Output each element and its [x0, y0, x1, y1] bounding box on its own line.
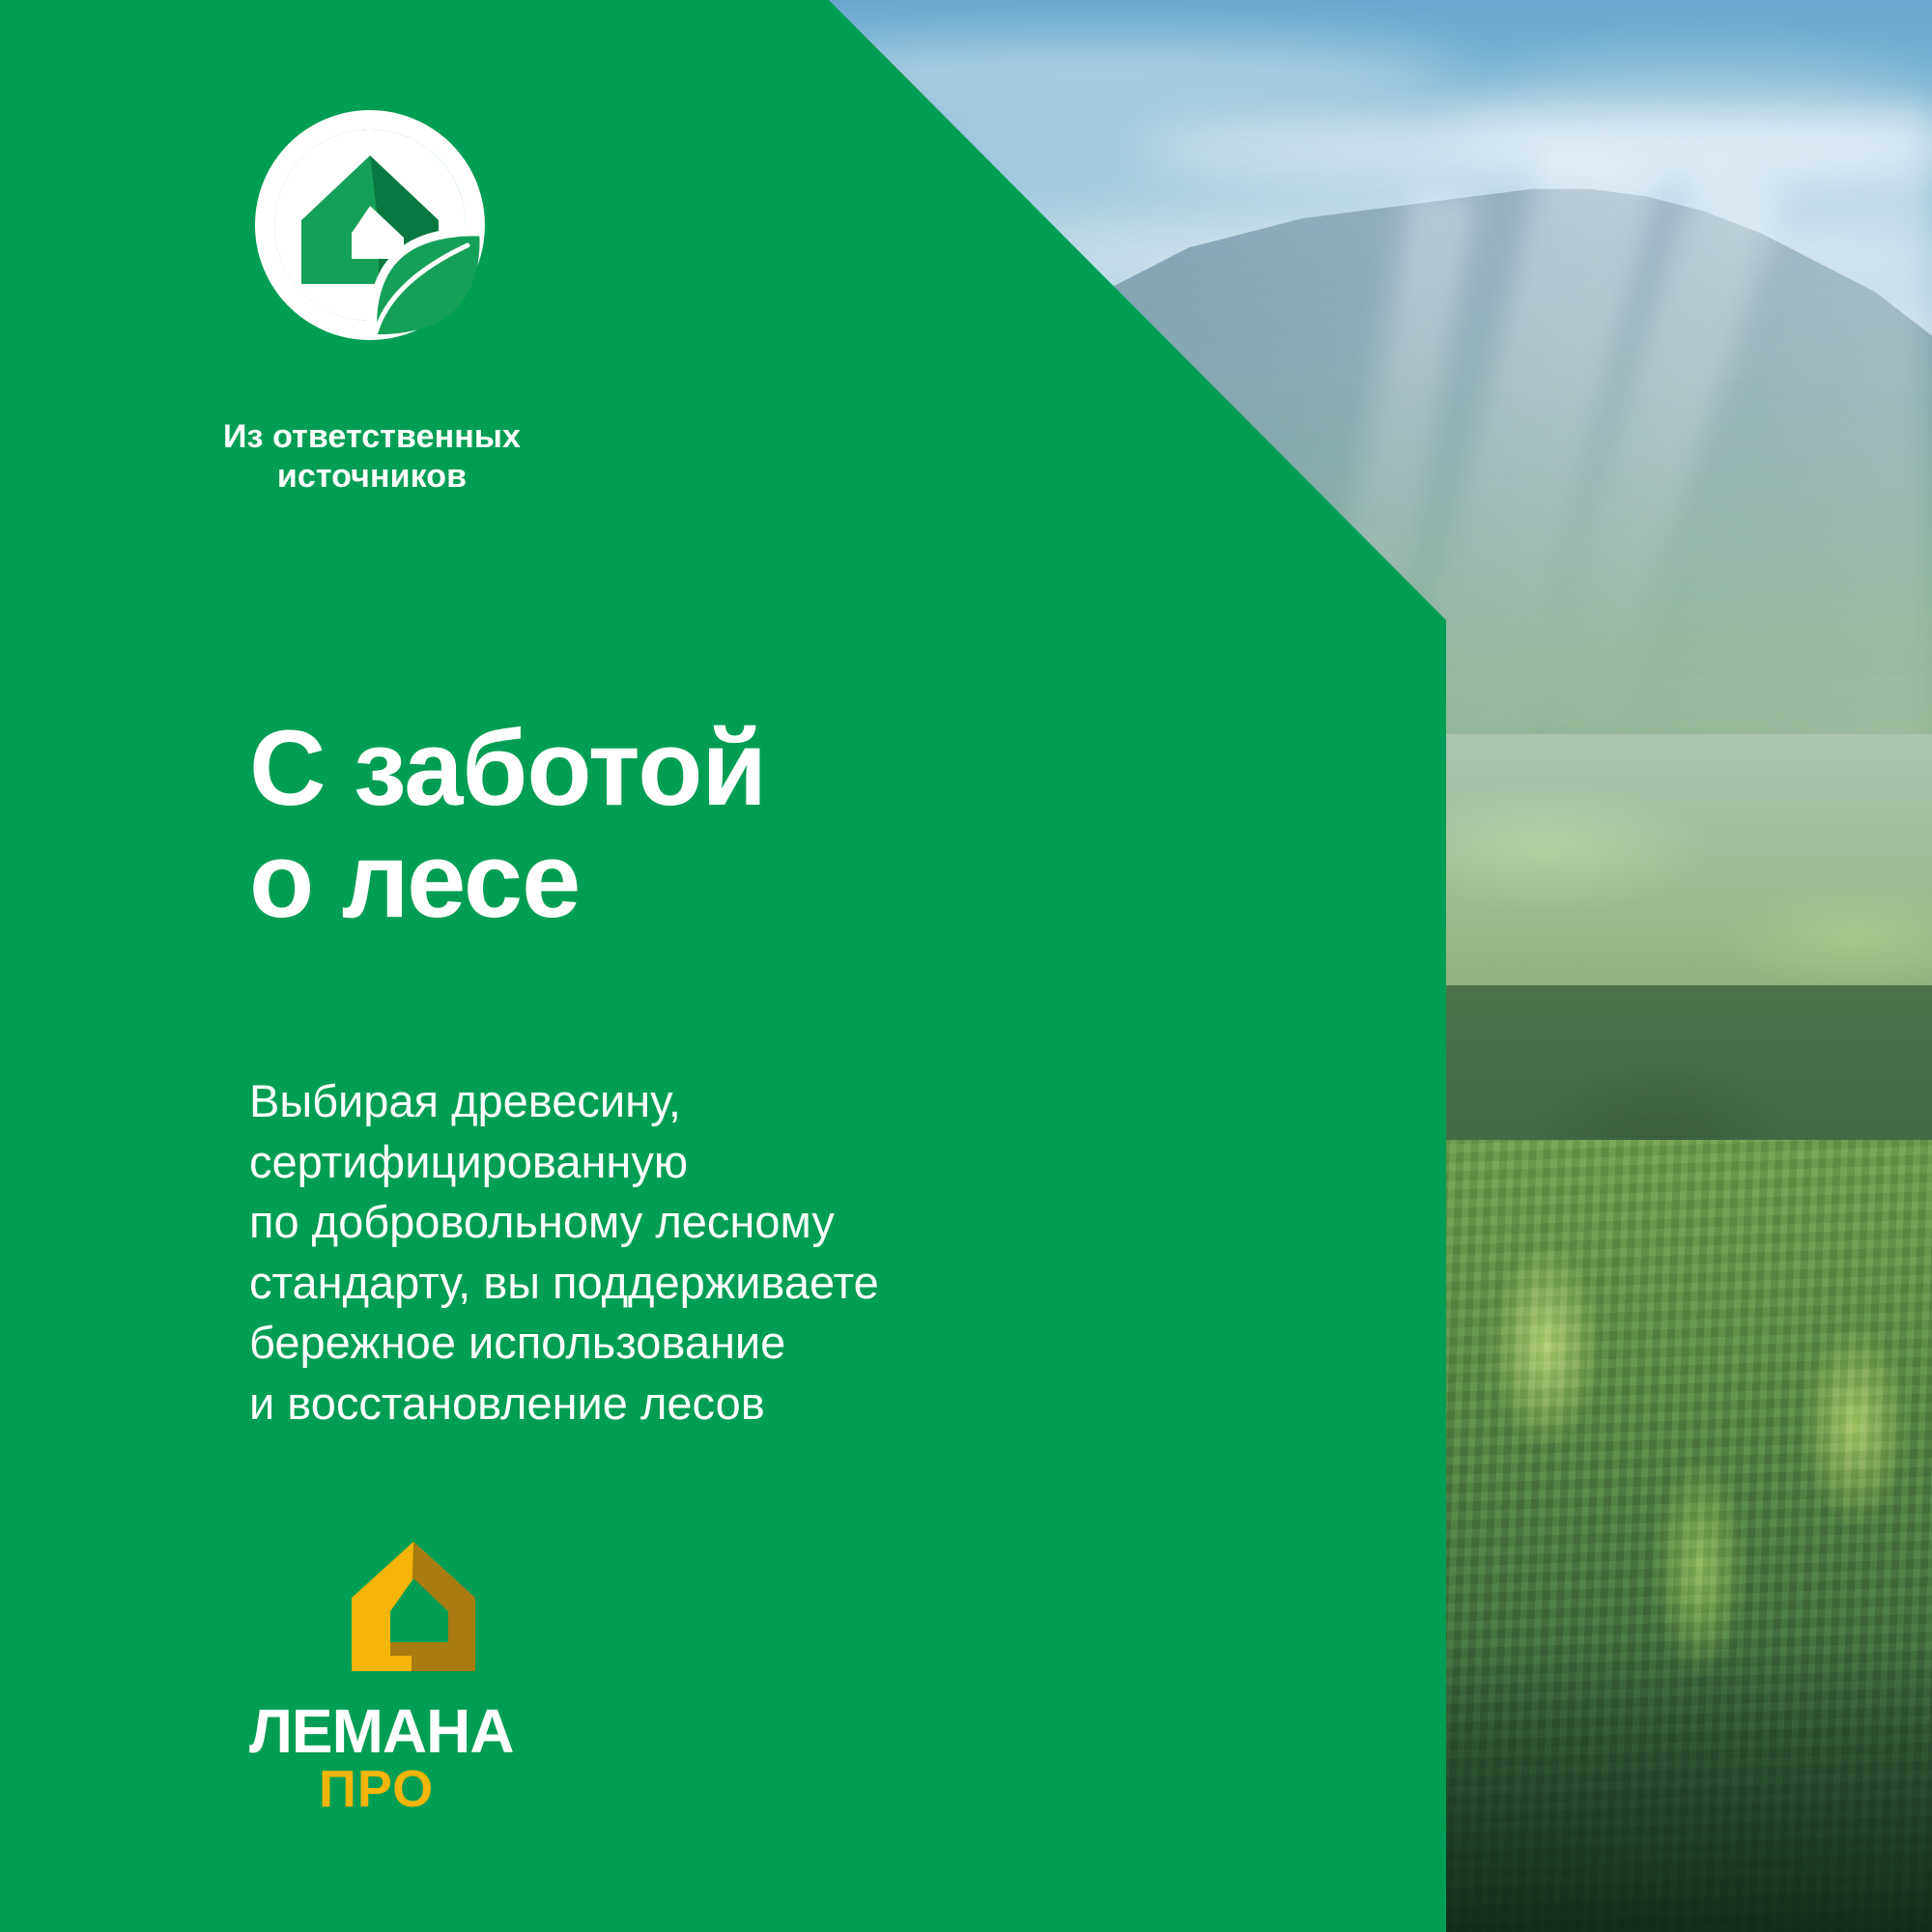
body-line-6: и восстановление лесов — [249, 1374, 879, 1435]
badge-caption: Из ответственных источников — [164, 417, 580, 497]
page-title: С заботой о лесе — [249, 713, 766, 938]
brand-sub-text: ПРО — [319, 1760, 434, 1812]
headline-line-2: о лесе — [249, 825, 766, 938]
brand-name-text: ЛЕМАНА — [249, 1698, 514, 1766]
body-line-5: бережное использование — [249, 1313, 879, 1374]
body-paragraph: Выбирая древесину, сертифицированную по … — [249, 1071, 879, 1434]
badge-caption-line-1: Из ответственных — [164, 417, 580, 457]
body-line-2: сертифицированную — [249, 1132, 879, 1193]
lemana-pro-house-icon — [348, 1538, 479, 1675]
lemana-pro-wordmark: ЛЕМАНА ПРО — [249, 1698, 578, 1812]
body-line-1: Выбирая древесину, — [249, 1071, 879, 1132]
responsible-sources-eco-badge-icon — [249, 104, 491, 346]
body-line-3: по добровольному лесному — [249, 1192, 879, 1253]
headline-line-1: С заботой — [249, 713, 766, 826]
badge-caption-line-2: источников — [164, 457, 580, 497]
lemana-pro-logo: ЛЕМАНА ПРО — [249, 1538, 597, 1812]
poster-root: Из ответственных источников С заботой о … — [0, 0, 1932, 1932]
body-line-4: стандарту, вы поддерживаете — [249, 1253, 879, 1314]
